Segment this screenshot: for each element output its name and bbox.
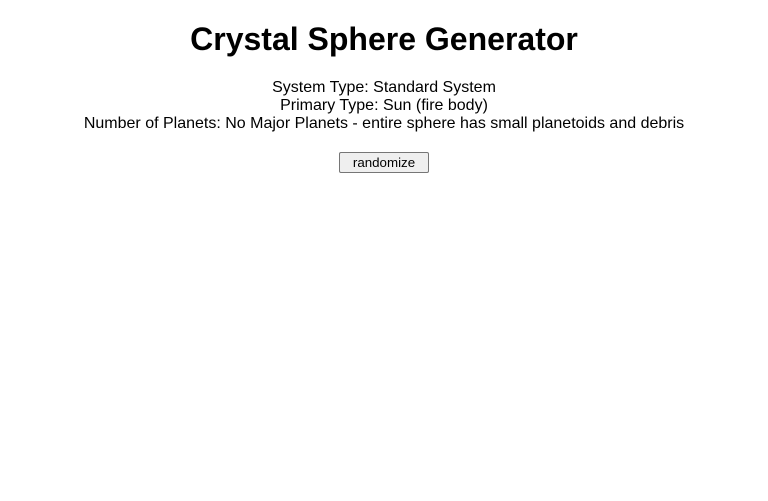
page-container: Crystal Sphere Generator System Type: St… <box>0 21 768 501</box>
number-of-planets-line: Number of Planets: No Major Planets - en… <box>8 115 760 133</box>
randomize-button[interactable]: randomize <box>339 152 429 173</box>
system-info-block: System Type: Standard System Primary Typ… <box>8 79 760 133</box>
primary-type-line: Primary Type: Sun (fire body) <box>8 97 760 115</box>
button-row: randomize <box>8 152 760 173</box>
page-title: Crystal Sphere Generator <box>8 21 760 58</box>
system-type-line: System Type: Standard System <box>8 79 760 97</box>
